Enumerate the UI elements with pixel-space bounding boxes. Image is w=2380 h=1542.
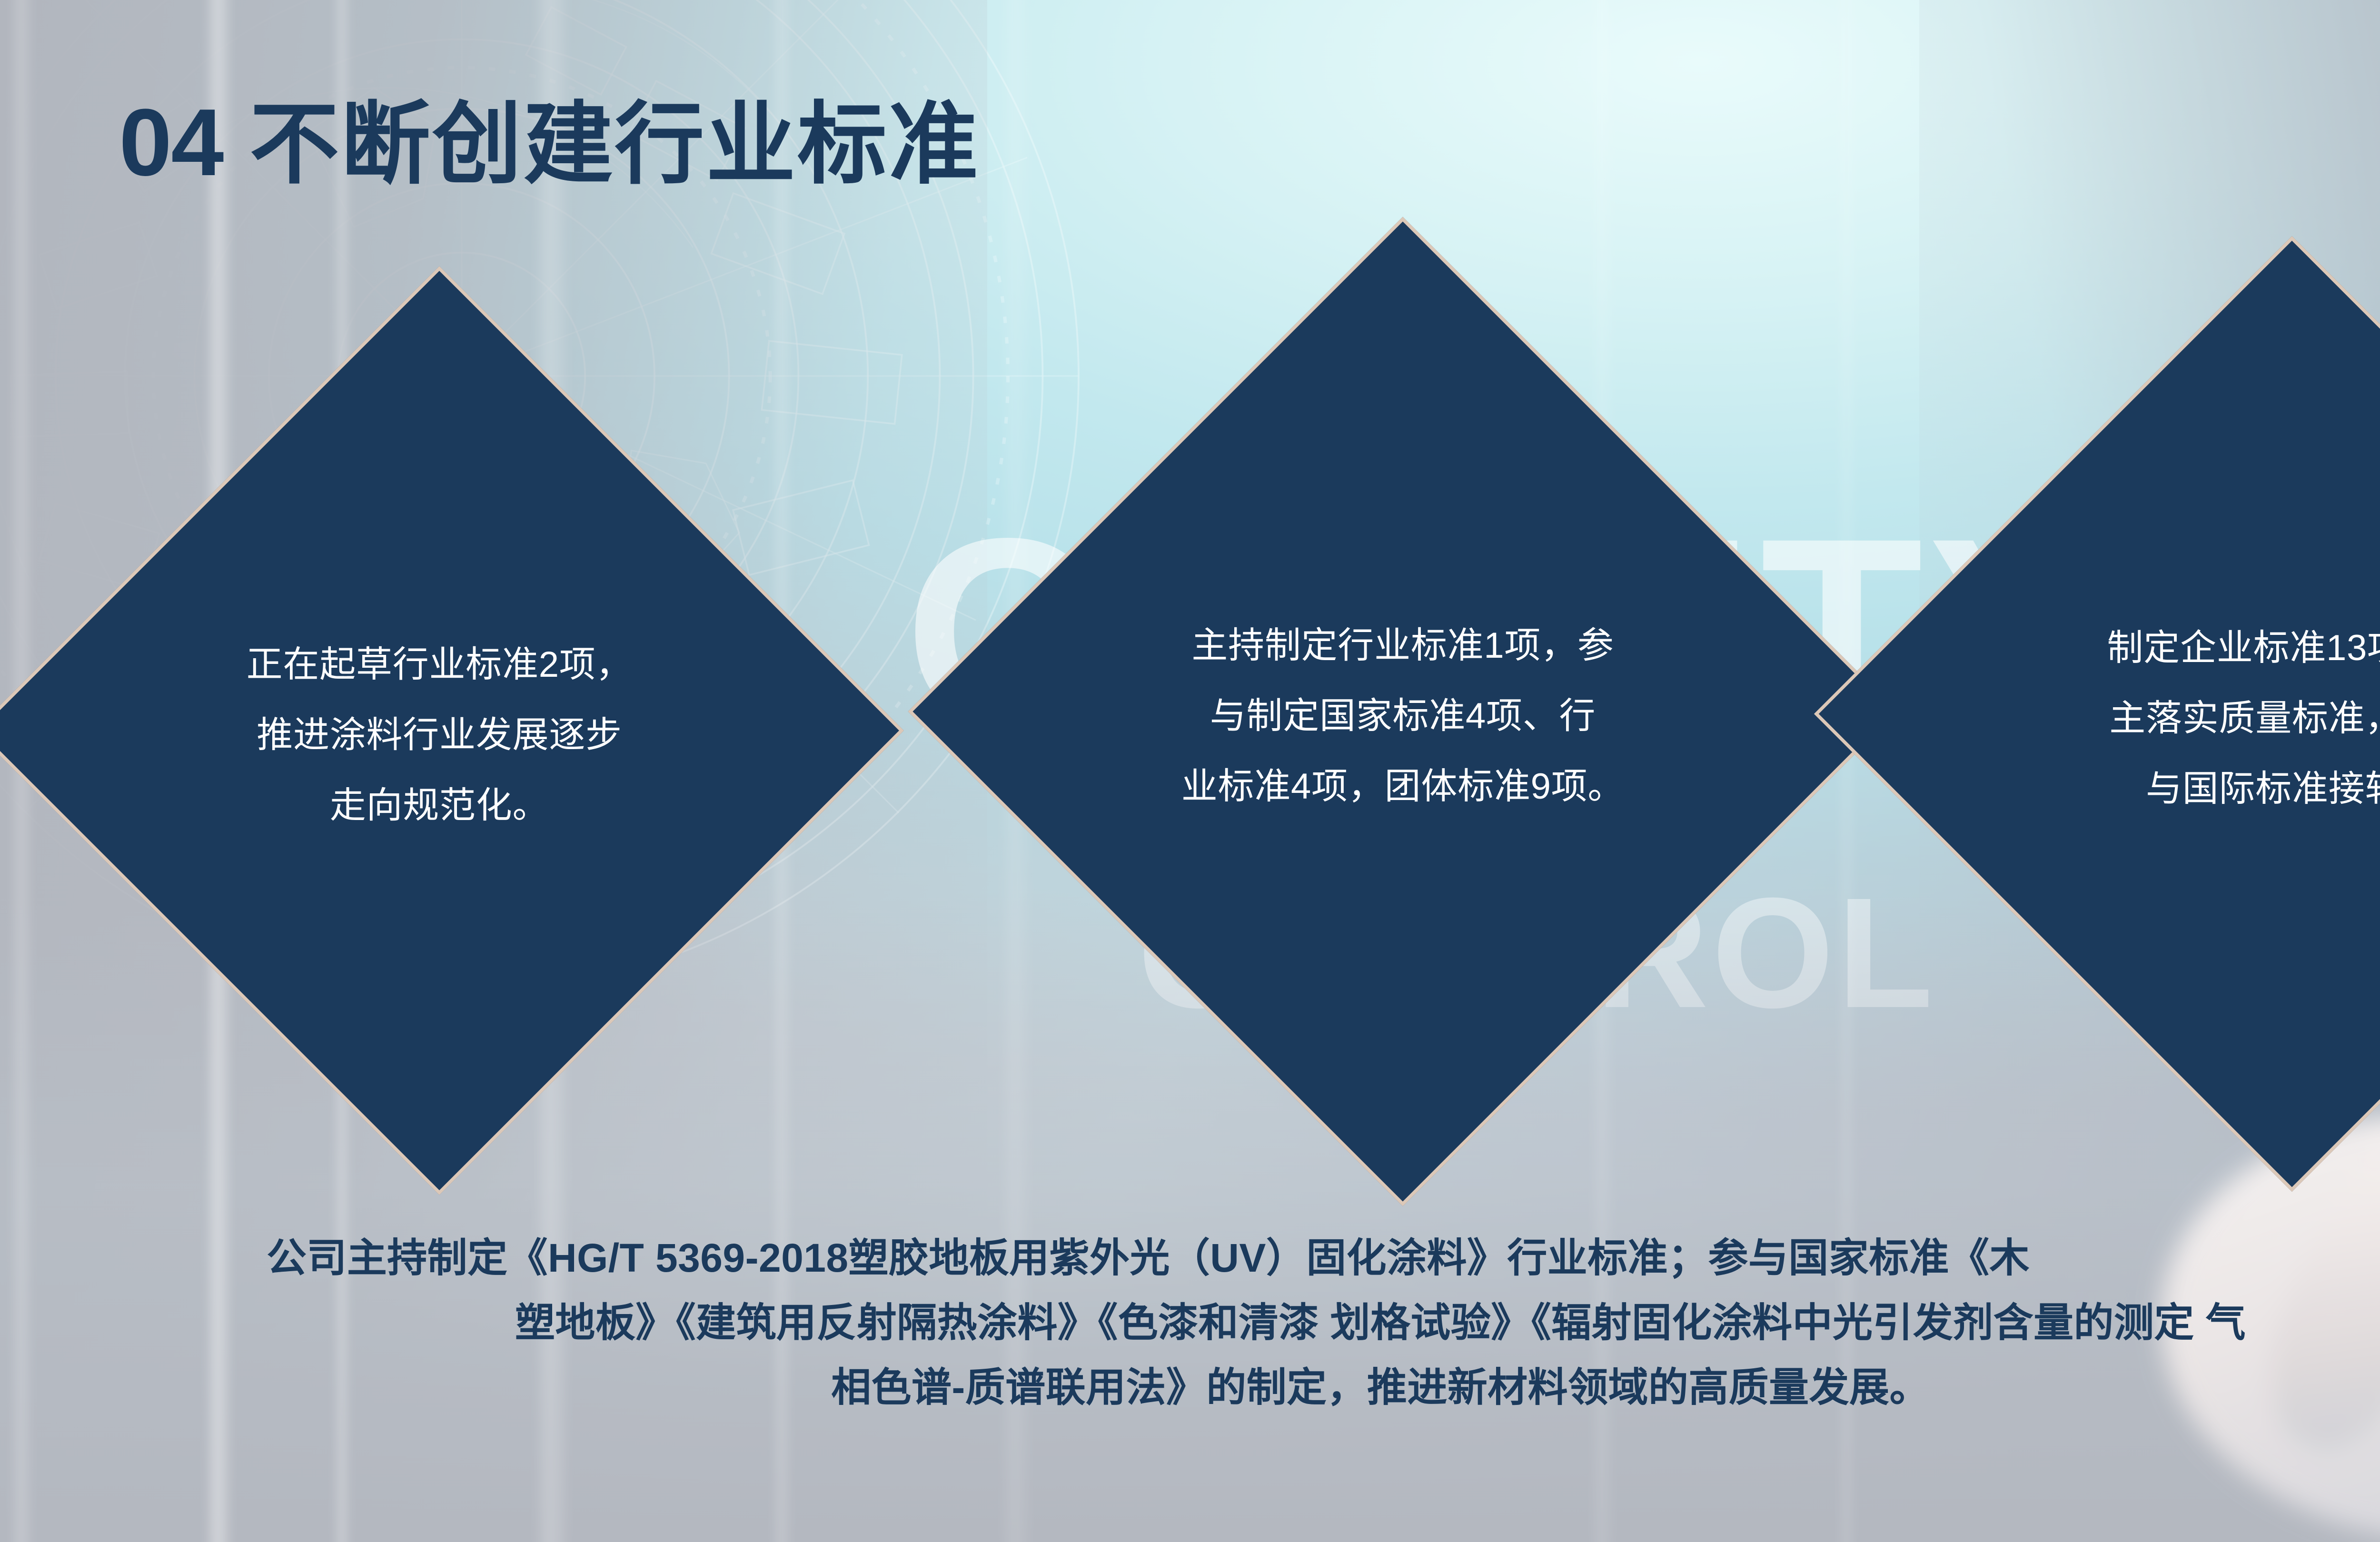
card-2-line-1: 主持制定行业标准1项，参 [1191,625,1614,666]
card-2-line-2: 与制定国家标准4项、行 [1210,696,1596,736]
card-1-line-1: 正在起草行业标准2项， [247,644,633,685]
title-number: 04 [119,95,223,190]
footnote-line-2: 塑地板》《建筑用反射隔热涂料》《色漆和清漆 划格试验》《辐射固化涂料中光引发剂含… [267,1290,2380,1355]
card-1-line-3: 走向规范化。 [330,785,549,826]
card-3-line-1: 制定企业标准13项，自 [2107,628,2380,668]
diamond-card-3-text: 制定企业标准13项，自 主落实质量标准，加快 与国际标准接轨。 [1954,613,2380,825]
footnote-line-1: 公司主持制定《HG/T 5369-2018塑胶地板用紫外光（UV）固化涂料》行业… [267,1226,2380,1290]
title-heading: 不断创建行业标准 [249,99,980,189]
footnote-paragraph: 公司主持制定《HG/T 5369-2018塑胶地板用紫外光（UV）固化涂料》行业… [267,1226,2380,1420]
card-3-line-3: 与国际标准接轨。 [2146,769,2380,809]
slide-canvas: QUALITY CONTROL 04 不断创建行业标准 正在起草行业标准2项， … [0,0,2380,1542]
footnote-line-3: 相色谱-质谱联用法》的制定，推进新材料领域的高质量发展。 [267,1355,2380,1420]
diamond-card-1-text: 正在起草行业标准2项， 推进涂料行业发展逐步 走向规范化。 [111,630,768,841]
page-title: 04 不断创建行业标准 [119,95,980,190]
card-3-line-2: 主落实质量标准，加快 [2109,698,2380,739]
card-2-line-3: 业标准4项，团体标准9项。 [1181,766,1624,807]
diamond-card-2-text: 主持制定行业标准1项，参 与制定国家标准4项、行 业标准4项，团体标准9项。 [1053,611,1753,822]
card-1-line-2: 推进涂料行业发展逐步 [257,715,622,755]
